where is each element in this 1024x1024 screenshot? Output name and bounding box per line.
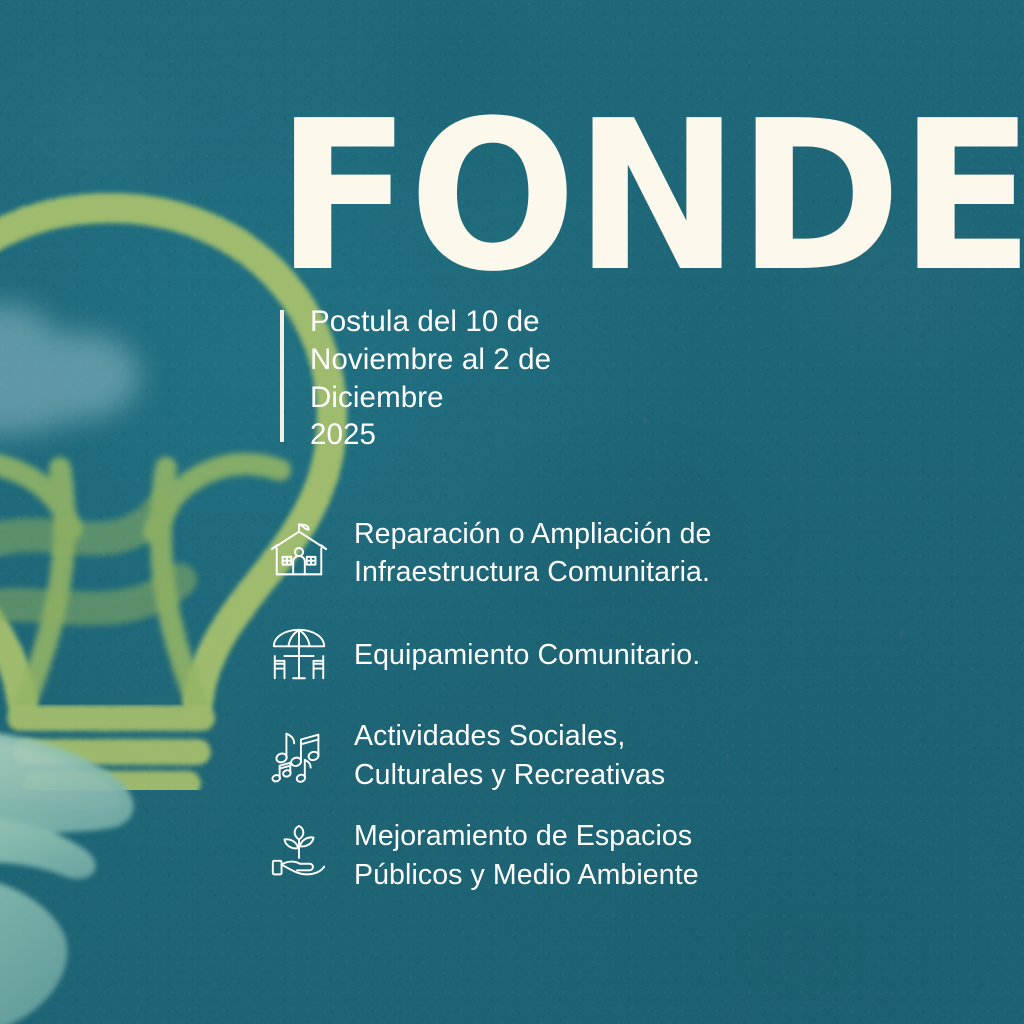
patio-umbrella-table-icon	[268, 624, 330, 686]
list-item: Mejoramiento de Espacios Públicos y Medi…	[268, 805, 1024, 905]
vertical-rule	[280, 310, 284, 442]
application-period: Postula del 10 de Noviembre al 2 de Dici…	[280, 303, 551, 454]
music-notes-icon	[268, 724, 330, 786]
list-item-label: Actividades Sociales, Culturales y Recre…	[354, 716, 665, 793]
list-item: Reparación o Ampliación de Infraestructu…	[268, 500, 1024, 605]
list-item: Equipamiento Comunitario.	[268, 605, 1024, 705]
category-list: Reparación o Ampliación de Infraestructu…	[268, 500, 1024, 905]
fondeve-poster: FONDEVE Postula del 10 de Noviembre al 2…	[0, 0, 1024, 1024]
house-icon	[268, 522, 330, 584]
list-item-label: Equipamiento Comunitario.	[354, 635, 700, 674]
page-title: FONDEVE	[276, 116, 870, 277]
application-period-text: Postula del 10 de Noviembre al 2 de Dici…	[310, 303, 551, 454]
list-item-label: Mejoramiento de Espacios Públicos y Medi…	[354, 816, 699, 893]
list-item: Actividades Sociales, Culturales y Recre…	[268, 705, 1024, 805]
poster-content: FONDEVE Postula del 10 de Noviembre al 2…	[0, 0, 1024, 1024]
list-item-label: Reparación o Ampliación de Infraestructu…	[354, 514, 712, 591]
hand-plant-icon	[268, 824, 330, 886]
